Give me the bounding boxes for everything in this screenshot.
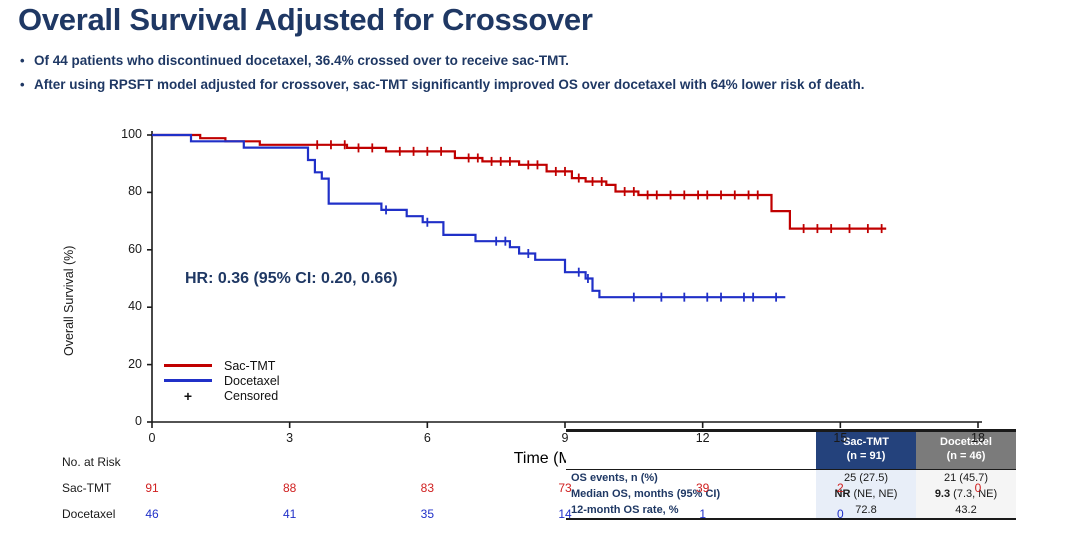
risk-count-value: 39 (683, 481, 723, 495)
bullet-marker-icon: • (20, 53, 34, 69)
table-bottom-rule (566, 519, 1016, 520)
bullet-list: • Of 44 patients who discontinued doceta… (20, 53, 1070, 101)
legend-item-sac-tmt: Sac-TMT (162, 358, 280, 373)
risk-count-value: 2 (820, 481, 860, 495)
risk-count-value: 88 (270, 481, 310, 495)
column-header-n: (n = 91) (818, 450, 914, 464)
cell-docetaxel: 43.2 (916, 502, 1016, 519)
risk-row-label: Sac-TMT (62, 481, 111, 495)
cell-bold-part: 9.3 (935, 488, 950, 500)
column-header-n: (n = 46) (918, 450, 1014, 464)
list-item: • Of 44 patients who discontinued doceta… (20, 53, 1070, 70)
risk-count-value: 14 (545, 507, 585, 521)
legend-label: Censored (224, 389, 278, 403)
y-axis-tick-label: 80 (104, 184, 142, 198)
x-axis-tick-label: 9 (545, 431, 585, 445)
y-axis-tick-label: 60 (104, 242, 142, 256)
page-title: Overall Survival Adjusted for Crossover (18, 2, 593, 38)
y-axis-tick-label: 20 (104, 357, 142, 371)
legend-item-docetaxel: Docetaxel (162, 373, 280, 388)
chart-legend: Sac-TMT Docetaxel + Censored (162, 358, 280, 403)
hazard-ratio-annotation: HR: 0.36 (95% CI: 0.20, 0.66) (185, 270, 398, 288)
x-axis-tick-label: 0 (132, 431, 172, 445)
risk-count-value: 73 (545, 481, 585, 495)
y-axis-tick-label: 0 (104, 414, 142, 428)
list-item: • After using RPSFT model adjusted for c… (20, 77, 1070, 94)
x-axis-tick-label: 15 (820, 431, 860, 445)
legend-line-icon (162, 364, 214, 367)
risk-count-value: 1 (683, 507, 723, 521)
table-row: Median OS, months (95% CI) NR (NE, NE) 9… (566, 486, 1016, 502)
x-axis-tick-label: 6 (407, 431, 447, 445)
risk-table-title: No. at Risk (62, 455, 121, 469)
summary-stats-table: Sac-TMT (n = 91) Docetaxel (n = 46) OS e… (566, 429, 1016, 520)
y-axis-tick-label: 100 (104, 127, 142, 141)
bullet-text: After using RPSFT model adjusted for cro… (34, 77, 1070, 94)
risk-count-value: 0 (820, 507, 860, 521)
risk-count-value: 83 (407, 481, 447, 495)
risk-count-value: 46 (132, 507, 172, 521)
risk-count-value: 41 (270, 507, 310, 521)
risk-row-label: Docetaxel (62, 507, 115, 521)
risk-count-value: 0 (958, 481, 998, 495)
slide-root: Overall Survival Adjusted for Crossover … (0, 0, 1080, 539)
y-axis-tick-label: 40 (104, 299, 142, 313)
cell-value: 43.2 (955, 504, 976, 516)
risk-count-value: 35 (407, 507, 447, 521)
y-axis-title: Overall Survival (%) (62, 246, 76, 356)
plus-icon: + (162, 389, 214, 403)
legend-label: Docetaxel (224, 374, 280, 388)
bullet-marker-icon: • (20, 77, 34, 93)
x-axis-tick-label: 3 (270, 431, 310, 445)
table-header-row: Sac-TMT (n = 91) Docetaxel (n = 46) (566, 432, 1016, 469)
legend-item-censored: + Censored (162, 388, 280, 403)
bullet-text: Of 44 patients who discontinued docetaxe… (34, 53, 1070, 70)
risk-count-value: 91 (132, 481, 172, 495)
x-axis-tick-label: 12 (683, 431, 723, 445)
x-axis-tick-label: 18 (958, 431, 998, 445)
survival-curve-sac-tmt (152, 135, 886, 229)
legend-label: Sac-TMT (224, 359, 275, 373)
legend-line-icon (162, 379, 214, 382)
table-row: OS events, n (%) 25 (27.5) 21 (45.7) (566, 470, 1016, 486)
table-row: 12-month OS rate, % 72.8 43.2 (566, 502, 1016, 519)
kaplan-meier-chart: Overall Survival (%) Time (Months) HR: 0… (0, 118, 1080, 539)
